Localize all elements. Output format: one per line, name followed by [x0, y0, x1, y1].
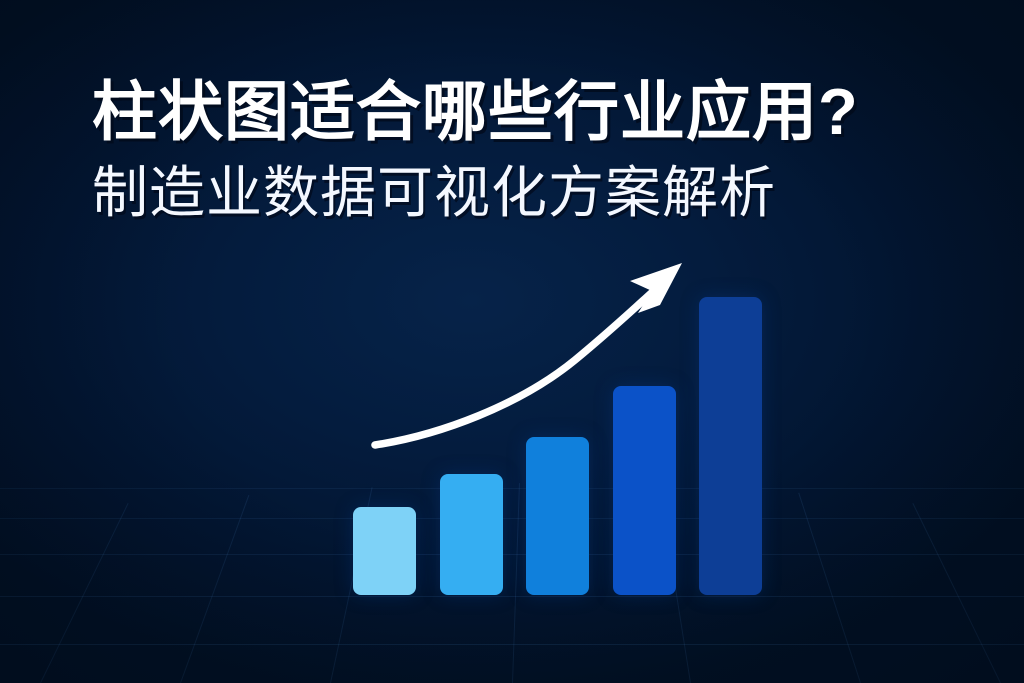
- heading-block: 柱状图适合哪些行业应用? 制造业数据可视化方案解析: [92, 78, 972, 223]
- bar-2: [440, 474, 503, 595]
- bar-3: [526, 437, 589, 595]
- bar-chart: [330, 255, 800, 595]
- bar-1: [353, 507, 416, 595]
- poster-subtitle: 制造业数据可视化方案解析: [92, 163, 972, 223]
- poster-canvas: 柱状图适合哪些行业应用? 制造业数据可视化方案解析: [0, 0, 1024, 683]
- bar-4: [613, 386, 676, 595]
- bar-5: [699, 297, 762, 595]
- poster-title: 柱状图适合哪些行业应用?: [92, 78, 972, 147]
